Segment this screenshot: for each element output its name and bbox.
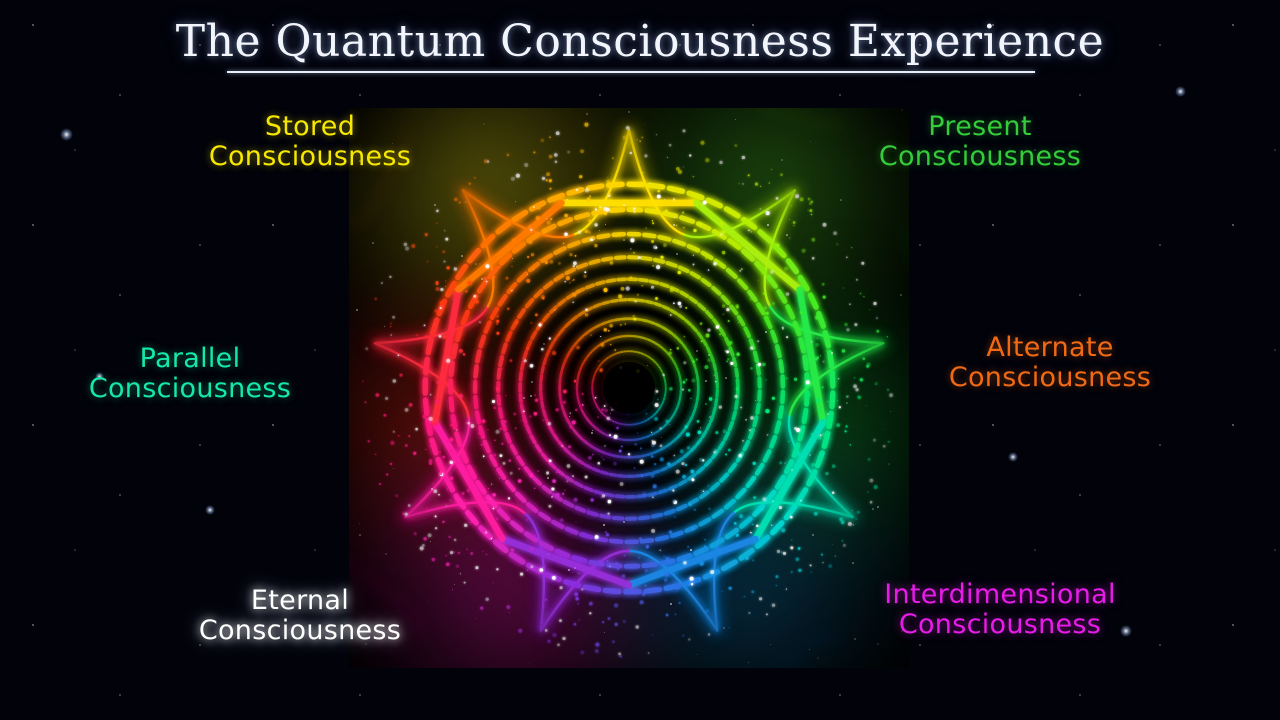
label-line-2: Consciousness: [135, 616, 465, 646]
label-stored-consciousness: Stored Consciousness: [165, 112, 455, 172]
title-underline: [227, 71, 1035, 73]
slide-canvas: The Quantum Consciousness Experience Sto…: [0, 0, 1280, 720]
label-line-2: Consciousness: [835, 142, 1125, 172]
mandala-vector-layer: [349, 108, 909, 668]
label-parallel-consciousness: Parallel Consciousness: [45, 344, 335, 404]
label-line-2: Consciousness: [45, 374, 335, 404]
label-line-2: Consciousness: [830, 610, 1170, 640]
label-line-1: Present: [835, 112, 1125, 142]
label-alternate-consciousness: Alternate Consciousness: [905, 333, 1195, 393]
label-line-1: Interdimensional: [830, 580, 1170, 610]
label-interdimensional-consciousness: Interdimensional Consciousness: [830, 580, 1170, 640]
label-eternal-consciousness: Eternal Consciousness: [135, 586, 465, 646]
label-line-2: Consciousness: [905, 363, 1195, 393]
label-line-2: Consciousness: [165, 142, 455, 172]
label-line-1: Stored: [165, 112, 455, 142]
label-line-1: Parallel: [45, 344, 335, 374]
quantum-mandala-artwork: [349, 108, 909, 668]
label-present-consciousness: Present Consciousness: [835, 112, 1125, 172]
label-line-1: Eternal: [135, 586, 465, 616]
page-title: The Quantum Consciousness Experience: [0, 16, 1280, 67]
label-line-1: Alternate: [905, 333, 1195, 363]
